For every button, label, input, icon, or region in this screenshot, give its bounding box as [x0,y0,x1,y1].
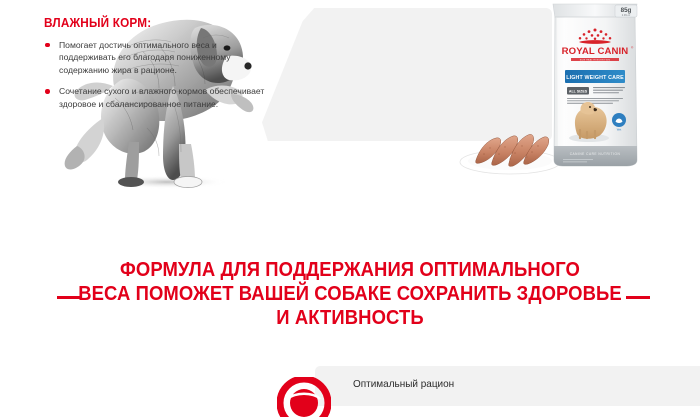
pouch-brand-text: ROYAL CANIN [562,46,629,57]
pouch-weight-text: 85g [621,7,632,14]
list-item: Сочетание сухого и влажного кормов обесп… [44,85,276,110]
svg-text:Wet: Wet [617,128,622,132]
svg-text:2.99 oz: 2.99 oz [622,13,631,17]
pouch-footer-text: CANINE CARE NUTRITION [570,152,621,156]
optimal-ration-label: Оптимальный рацион [353,378,454,390]
optimal-ration-card[interactable]: Оптимальный рацион [315,366,700,406]
headline-line-3: И АКТИВНОСТЬ [35,306,665,330]
wet-food-info-content: ВЛАЖНЫЙ КОРМ: Помогает достичь оптимальн… [44,17,276,111]
product-pouch: 85g 2.99 oz ROYAL CANIN ® SIZE HEALTH NU… [543,0,647,170]
benefit-list: Помогает достичь оптимального веса и под… [44,39,276,111]
bullet-dot-icon [45,43,50,48]
benefit-text: Сочетание сухого и влажного кормов обесп… [59,86,264,109]
headline-dash-left-icon [57,296,81,299]
list-item: Помогает достичь оптимального веса и под… [44,39,276,77]
red-ring-icon [277,377,331,417]
pouch-variant-text: LIGHT WEIGHT CARE [566,75,624,81]
promo-banner: ВЛАЖНЫЙ КОРМ: Помогает достичь оптимальн… [0,0,700,400]
headline-dash-right-icon [626,296,650,299]
page-title: ФОРМУЛА ДЛЯ ПОДДЕРЖАНИЯ ОПТИМАЛЬНОГО ВЕС… [0,258,700,330]
info-panel-title: ВЛАЖНЫЙ КОРМ: [44,17,262,30]
bullet-dot-icon [45,89,50,94]
headline-line-2: ВЕСА ПОМОЖЕТ ВАШЕЙ СОБАКЕ СОХРАНИТЬ ЗДОР… [35,282,665,306]
headline-line-1: ФОРМУЛА ДЛЯ ПОДДЕРЖАНИЯ ОПТИМАЛЬНОГО [35,258,665,282]
pouch-size-text: ALL SIZES [569,89,588,93]
benefit-text: Помогает достичь оптимального веса и под… [59,40,231,75]
svg-text:SIZE HEALTH NUTRITION: SIZE HEALTH NUTRITION [580,58,611,61]
